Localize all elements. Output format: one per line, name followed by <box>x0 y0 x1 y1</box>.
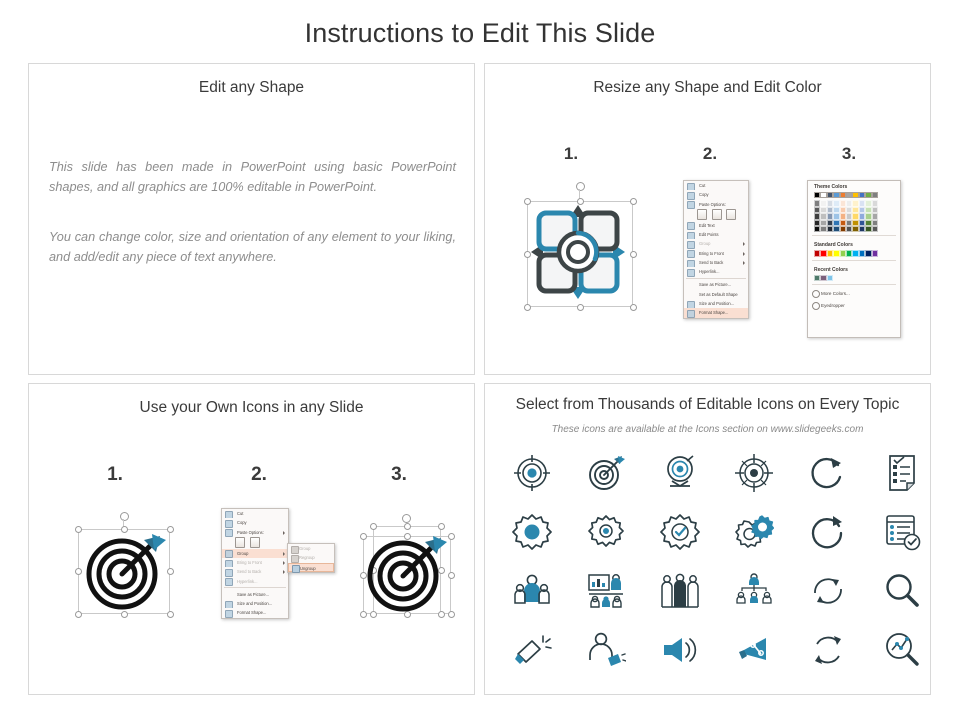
chevron-right-icon <box>743 261 745 265</box>
icon-cell[interactable] <box>497 562 567 620</box>
menu-item-hyperlink[interactable]: Hyperlink... <box>684 267 748 276</box>
theme-colors-tint-rows[interactable] <box>814 200 900 232</box>
icon-cell[interactable] <box>645 621 715 679</box>
step-number-3: 3. <box>829 144 869 164</box>
standard-color-swatch[interactable] <box>872 250 878 256</box>
recent-color-swatch[interactable] <box>827 275 833 281</box>
icon-cell[interactable] <box>793 503 863 561</box>
gear-check-icon <box>660 512 700 552</box>
step-number-2: 2. <box>690 144 730 164</box>
cut-icon <box>687 183 695 191</box>
size-position-icon <box>687 301 695 309</box>
icon-cell[interactable] <box>719 503 789 561</box>
icon-cell[interactable] <box>497 444 567 502</box>
menu-item-save-as-picture[interactable]: Save as Picture... <box>222 590 288 599</box>
panel-title-editable-icons: Select from Thousands of Editable Icons … <box>485 396 930 414</box>
chevron-right-icon <box>283 531 285 535</box>
menu-item-format-shape[interactable]: Format Shape... <box>684 308 748 317</box>
menu-item-bring-to-front[interactable]: Bring to Front <box>222 558 288 567</box>
icon-cell[interactable] <box>867 621 937 679</box>
refresh-circle-icon <box>808 512 848 552</box>
sync-arrows-icon <box>808 571 848 611</box>
picker-divider <box>812 235 896 236</box>
icon-cell[interactable] <box>571 562 641 620</box>
checklist-approved-icon <box>882 512 922 552</box>
panel-edit-any-shape: Edit any Shape This slide has been made … <box>28 63 475 375</box>
submenu-item-group[interactable]: Group <box>288 544 334 553</box>
team-group-icon <box>660 571 700 611</box>
icon-cell[interactable] <box>571 621 641 679</box>
resize-demo-shape[interactable] <box>513 182 643 317</box>
more-colors-button[interactable]: More Colors... <box>808 288 900 300</box>
group-submenu[interactable]: Group Regroup Ungroup <box>287 543 335 573</box>
paste-picture-icon[interactable] <box>250 537 260 548</box>
person-megaphone-icon <box>586 630 626 670</box>
resize-step-numbers: 1. 2. 3. <box>485 144 930 174</box>
menu-item-cut[interactable]: Cut <box>222 509 288 518</box>
size-position-icon <box>225 601 233 609</box>
icon-cell[interactable] <box>719 444 789 502</box>
icon-cell[interactable] <box>497 621 567 679</box>
menu-item-copy[interactable]: Copy <box>684 190 748 199</box>
step-number-2: 2. <box>239 464 279 486</box>
standard-colors-heading: Standard Colors <box>808 239 900 250</box>
paste-option-buttons[interactable] <box>684 209 748 221</box>
paste-keep-formatting-icon[interactable] <box>235 537 245 548</box>
page-title: Instructions to Edit This Slide <box>0 18 960 49</box>
team-leader-icon <box>512 571 552 611</box>
icon-cell[interactable] <box>571 444 641 502</box>
paste-icon <box>225 529 233 537</box>
send-to-back-icon <box>687 260 695 268</box>
target-stand-icon <box>660 453 700 493</box>
menu-item-group[interactable]: Group <box>684 239 748 248</box>
gear-filled-icon <box>512 512 552 552</box>
icon-cell[interactable] <box>719 562 789 620</box>
menu-item-format-shape[interactable]: Format Shape... <box>222 608 288 617</box>
panel-own-icons: Use your Own Icons in any Slide 1. 2. 3. <box>28 383 475 695</box>
crosshair-dot-icon <box>734 453 774 493</box>
menu-item-hyperlink[interactable]: Hyperlink... <box>222 577 288 586</box>
menu-item-paste-options[interactable]: Paste Options: <box>684 200 748 209</box>
menu-item-copy[interactable]: Copy <box>222 518 288 527</box>
refresh-clockwise-icon <box>808 453 848 493</box>
menu-item-size-and-position[interactable]: Size and Position... <box>222 599 288 608</box>
chevron-right-icon <box>283 561 285 565</box>
menu-item-cut[interactable]: Cut <box>684 181 748 190</box>
panel-title-own-icons: Use your Own Icons in any Slide <box>29 399 474 417</box>
org-chart-people-icon <box>734 571 774 611</box>
send-to-back-icon <box>225 569 233 577</box>
icon-cell[interactable] <box>497 503 567 561</box>
submenu-item-ungroup[interactable]: Ungroup <box>288 563 334 572</box>
shape-context-menu[interactable]: Cut Copy Paste Options: Edit Text Edit P… <box>683 180 749 319</box>
standard-colors-row[interactable] <box>814 250 900 256</box>
target-crosshair-icon <box>512 453 552 493</box>
icon-library-grid <box>497 444 920 679</box>
slide-canvas: Instructions to Edit This Slide Edit any… <box>0 0 960 720</box>
menu-item-set-default-shape[interactable]: Set as Default Shape <box>684 290 748 299</box>
paste-icon <box>687 201 695 209</box>
icon-cell[interactable] <box>719 621 789 679</box>
bring-to-front-icon <box>687 250 695 258</box>
dartboard-ungrouped-shape[interactable] <box>347 512 467 622</box>
group-icon <box>225 550 233 558</box>
hyperlink-icon <box>687 269 695 277</box>
paste-option-buttons[interactable] <box>222 537 288 549</box>
four-square-arrows-icon <box>513 182 643 317</box>
copy-icon <box>225 520 233 528</box>
dartboard-selected-shape[interactable] <box>64 512 184 622</box>
icon-cell[interactable] <box>793 621 863 679</box>
magnifier-chart-icon <box>882 630 922 670</box>
group-context-menu[interactable]: Cut Copy Paste Options: Group Bring to F… <box>221 508 289 619</box>
menu-item-send-to-back[interactable]: Send to Back <box>684 258 748 267</box>
menu-item-group[interactable]: Group <box>222 549 288 558</box>
panel-subtitle-editable-icons: These icons are available at the Icons s… <box>485 424 930 435</box>
panel-title-edit-shape: Edit any Shape <box>29 79 474 97</box>
menu-item-paste-options[interactable]: Paste Options: <box>222 528 288 537</box>
standard-colors-grid[interactable] <box>808 250 900 256</box>
dartboard-arrow-icon <box>64 512 184 622</box>
picker-divider <box>812 260 896 261</box>
icon-cell[interactable] <box>793 562 863 620</box>
group-icon <box>687 241 695 249</box>
theme-colors-tint-row[interactable] <box>814 226 900 232</box>
cut-icon <box>225 511 233 519</box>
submenu-item-regroup[interactable]: Regroup <box>288 553 334 562</box>
chevron-right-icon <box>743 242 745 246</box>
chevron-right-icon <box>743 252 745 256</box>
step-number-3: 3. <box>379 464 419 486</box>
theme-color-swatch[interactable] <box>872 192 878 198</box>
copy-icon <box>687 192 695 200</box>
icon-cell[interactable] <box>867 444 937 502</box>
magnifier-icon <box>882 571 922 611</box>
color-picker-panel[interactable]: Theme Colors Standard Colors Recent Colo… <box>807 180 901 338</box>
recent-colors-heading: Recent Colors <box>808 264 900 275</box>
presentation-audience-icon <box>586 571 626 611</box>
megaphone-percent-icon <box>734 630 774 670</box>
eyedropper-button[interactable]: Eyedropper <box>808 300 900 312</box>
step-number-1: 1. <box>551 144 591 164</box>
recent-colors-grid[interactable] <box>808 275 900 281</box>
ungroup-icon <box>292 565 300 573</box>
gear-small-icon <box>586 512 626 552</box>
recent-colors-row[interactable] <box>814 275 900 281</box>
gears-double-icon <box>734 512 774 552</box>
menu-item-size-and-position[interactable]: Size and Position... <box>684 299 748 308</box>
icon-cell[interactable] <box>867 503 937 561</box>
menu-item-send-to-back[interactable]: Send to Back <box>222 567 288 576</box>
step-number-1: 1. <box>95 464 135 486</box>
hyperlink-icon <box>225 578 233 586</box>
icon-cell[interactable] <box>645 562 715 620</box>
panel-editable-icons: Select from Thousands of Editable Icons … <box>484 383 931 695</box>
menu-divider <box>686 278 746 279</box>
sync-triangle-icon <box>808 630 848 670</box>
theme-colors-grid[interactable] <box>808 192 900 232</box>
dartboard-arrow-icon <box>347 512 467 622</box>
paste-merge-icon[interactable] <box>712 209 722 220</box>
megaphone-icon <box>512 630 552 670</box>
chevron-right-icon <box>283 570 285 574</box>
panel-title-resize-shape: Resize any Shape and Edit Color <box>485 79 930 97</box>
speaker-loud-icon <box>660 630 700 670</box>
checklist-document-icon <box>882 453 922 493</box>
more-colors-icon <box>812 290 820 298</box>
menu-item-edit-points[interactable]: Edit Points <box>684 230 748 239</box>
edit-shape-paragraph-1: This slide has been made in PowerPoint u… <box>49 157 456 197</box>
edit-text-icon <box>687 222 695 230</box>
icon-cell[interactable] <box>867 562 937 620</box>
chevron-right-icon <box>283 552 285 556</box>
edit-points-icon <box>687 232 695 240</box>
panel-resize-shape: Resize any Shape and Edit Color 1. 2. 3. <box>484 63 931 375</box>
theme-colors-heading: Theme Colors <box>808 181 900 192</box>
icon-cell[interactable] <box>645 503 715 561</box>
edit-shape-paragraph-2: You can change color, size and orientati… <box>49 227 456 267</box>
paste-picture-icon[interactable] <box>726 209 736 220</box>
paste-keep-formatting-icon[interactable] <box>697 209 707 220</box>
dartboard-arrow-icon <box>586 453 626 493</box>
menu-item-bring-to-front[interactable]: Bring to Front <box>684 249 748 258</box>
icon-cell[interactable] <box>645 444 715 502</box>
picker-divider <box>812 284 896 285</box>
menu-item-save-as-picture[interactable]: Save as Picture... <box>684 280 748 289</box>
eyedropper-icon <box>812 302 820 310</box>
own-icons-step-numbers: 1. 2. 3. <box>29 464 474 494</box>
bring-to-front-icon <box>225 560 233 568</box>
menu-divider <box>224 587 286 588</box>
theme-tint-swatch[interactable] <box>872 226 878 232</box>
menu-item-edit-text[interactable]: Edit Text <box>684 221 748 230</box>
format-shape-icon <box>225 610 233 618</box>
icon-cell[interactable] <box>793 444 863 502</box>
icon-cell[interactable] <box>571 503 641 561</box>
format-shape-icon <box>687 310 695 318</box>
